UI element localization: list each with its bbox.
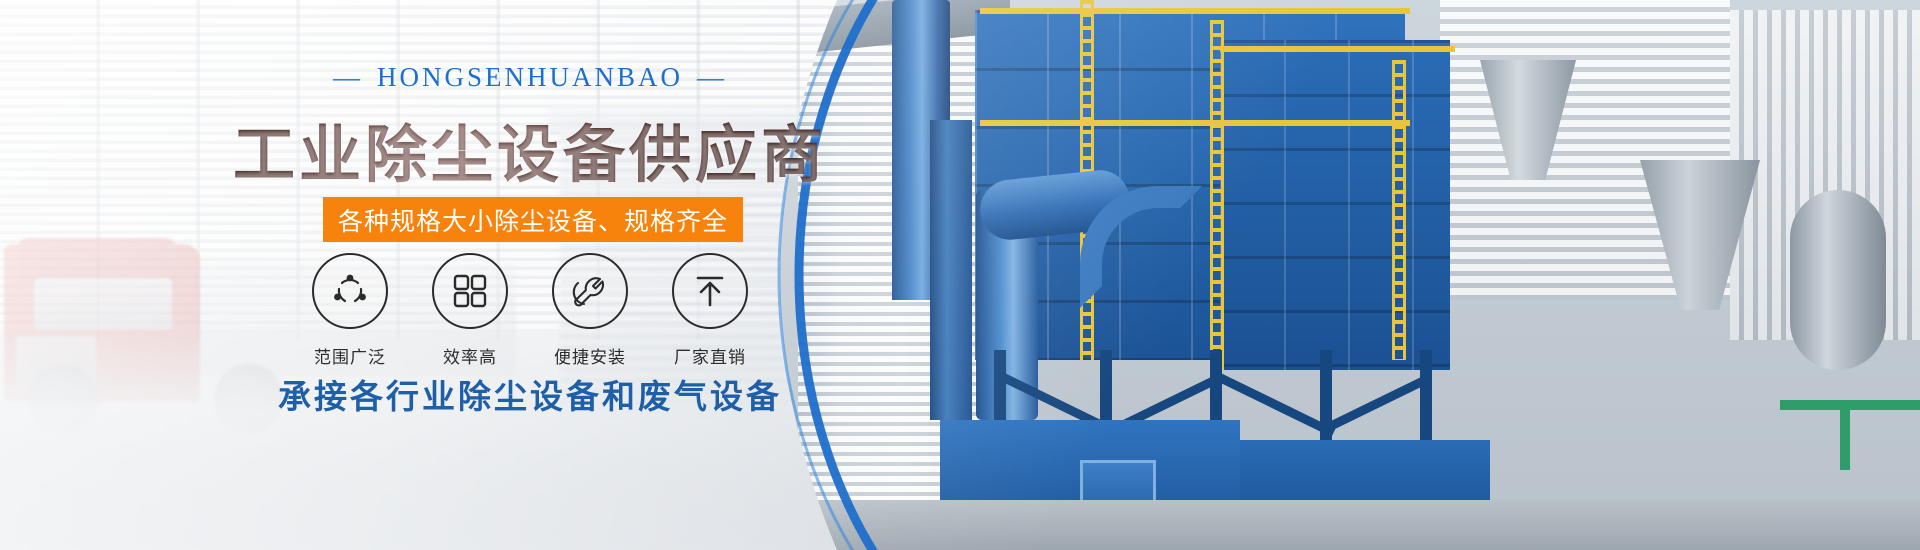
grid-squares-icon: [432, 253, 508, 329]
feature-label: 厂家直销: [674, 343, 746, 368]
eyebrow-dash-right: —: [697, 62, 727, 93]
feature-item-efficiency[interactable]: 效率高: [420, 253, 520, 368]
eyebrow-text: HONGSENHUANBAO: [377, 62, 683, 92]
tagline-banner: 各种规格大小除尘设备、规格齐全: [323, 197, 743, 242]
feature-label: 效率高: [443, 343, 497, 368]
feature-label: 范围广泛: [314, 343, 386, 368]
page-title: 工业除尘设备供应商: [0, 104, 1060, 194]
feature-item-direct-sales[interactable]: 厂家直销: [660, 253, 760, 368]
tagline-text: 各种规格大小除尘设备、规格齐全: [338, 202, 728, 238]
feature-item-range[interactable]: 范围广泛: [300, 253, 400, 368]
wrench-circle-icon: [552, 253, 628, 329]
feature-label: 便捷安装: [554, 343, 626, 368]
hero-content: —HONGSENHUANBAO— 工业除尘设备供应商 各种规格大小除尘设备、规格…: [0, 0, 1060, 550]
hero-banner: —HONGSENHUANBAO— 工业除尘设备供应商 各种规格大小除尘设备、规格…: [0, 0, 1920, 550]
feature-list: 范围广泛 效率高: [300, 253, 760, 368]
eyebrow-dash-left: —: [333, 62, 363, 93]
brand-eyebrow: —HONGSENHUANBAO—: [0, 62, 1060, 93]
network-nodes-icon: [312, 253, 388, 329]
arrow-up-bar-icon: [672, 253, 748, 329]
hero-subtitle: 承接各行业除尘设备和废气设备: [0, 370, 1060, 418]
feature-item-installation[interactable]: 便捷安装: [540, 253, 640, 368]
